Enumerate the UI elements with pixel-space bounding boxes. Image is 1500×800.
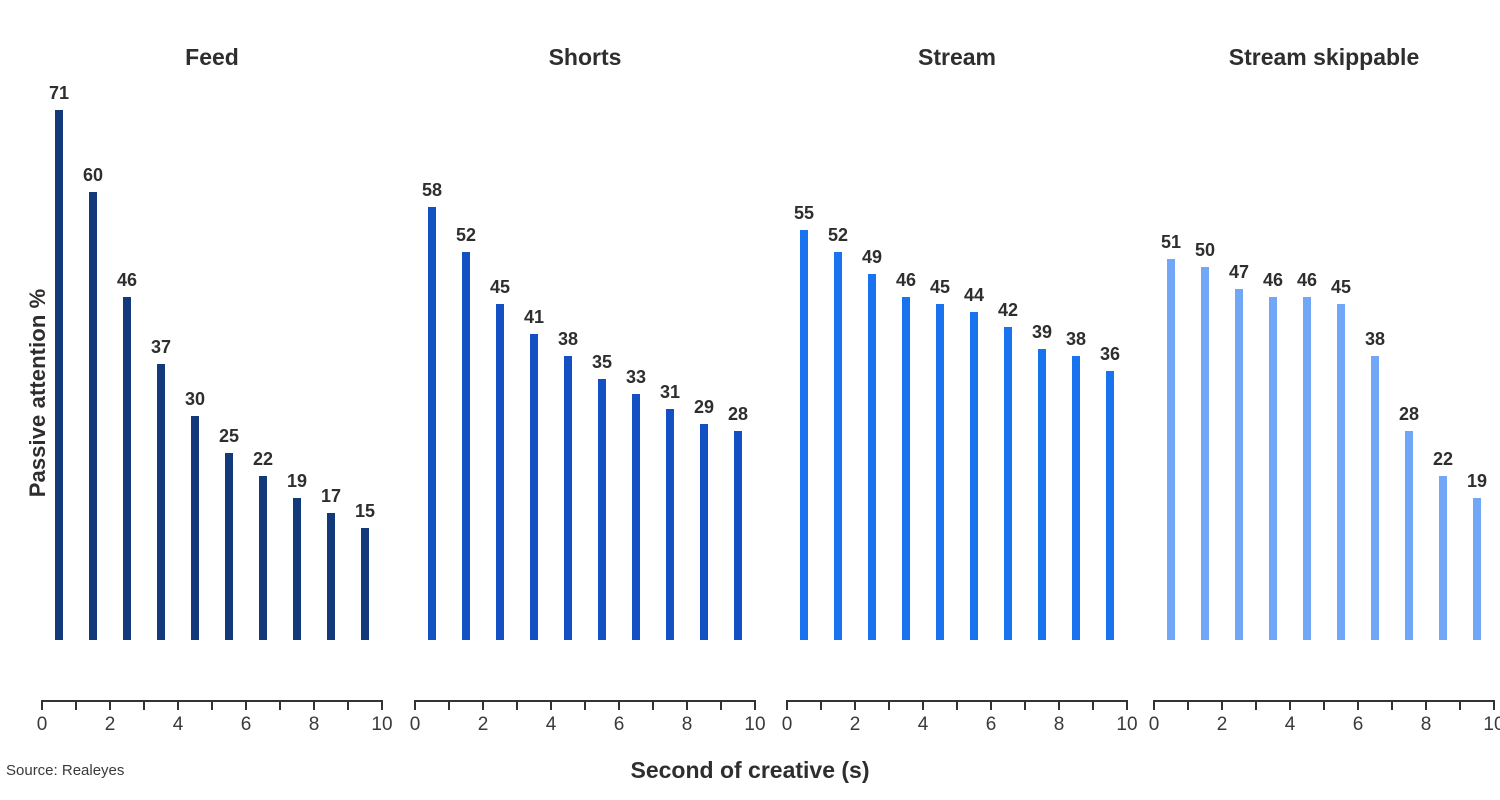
axis-tick	[786, 700, 788, 710]
bar	[327, 513, 335, 640]
panel-shorts: Shorts 58524541383533312928 0246810	[415, 0, 755, 760]
axis-tick-label: 2	[478, 714, 489, 736]
bar-group: 36	[1093, 0, 1127, 700]
axis-tick-label: 8	[1054, 714, 1065, 736]
bar-group: 19	[1460, 0, 1494, 700]
axis-tick	[1153, 700, 1155, 710]
axis-tick-label: 8	[309, 714, 320, 736]
axis-tick	[820, 700, 822, 710]
bar-group: 45	[1324, 0, 1358, 700]
bar-value-label: 33	[626, 368, 646, 386]
bar-value-label: 50	[1195, 241, 1215, 259]
bar-group: 15	[348, 0, 382, 700]
bar-group: 51	[1154, 0, 1188, 700]
bar-value-label: 35	[592, 353, 612, 371]
axis-tick	[414, 700, 416, 710]
bar-value-label: 29	[694, 398, 714, 416]
bar-value-label: 45	[1331, 278, 1351, 296]
axis-tick	[720, 700, 722, 710]
bar-value-label: 55	[794, 204, 814, 222]
axis-tick	[888, 700, 890, 710]
bar-value-label: 17	[321, 487, 341, 505]
bar	[191, 416, 199, 640]
bar-group: 38	[1358, 0, 1392, 700]
bar-group: 29	[687, 0, 721, 700]
bar-value-label: 22	[253, 450, 273, 468]
bar	[1371, 356, 1379, 640]
bar-value-label: 19	[287, 472, 307, 490]
bar-value-label: 71	[49, 84, 69, 102]
axis-tick	[1425, 700, 1427, 710]
bar	[462, 252, 470, 640]
bar-value-label: 22	[1433, 450, 1453, 468]
bar	[800, 230, 808, 640]
bar-group: 47	[1222, 0, 1256, 700]
chart-root: Passive attention % Feed 716046373025221…	[0, 0, 1500, 800]
axis-tick	[347, 700, 349, 710]
axis-tick	[279, 700, 281, 710]
axis-tick	[990, 700, 992, 710]
axis-tick	[1493, 700, 1495, 710]
bar	[1038, 349, 1046, 640]
axis-tick	[1391, 700, 1393, 710]
panel-stream: Stream 55524946454442393836 0246810	[787, 0, 1127, 760]
bar-group: 50	[1188, 0, 1222, 700]
axis-tick	[1058, 700, 1060, 710]
bar-group: 19	[280, 0, 314, 700]
axis-tick-label: 0	[1149, 714, 1160, 736]
bar-group: 52	[449, 0, 483, 700]
axis-tick	[1092, 700, 1094, 710]
bar	[123, 297, 131, 640]
axis-tick	[1323, 700, 1325, 710]
bar-group: 35	[585, 0, 619, 700]
bar	[970, 312, 978, 640]
axis-tick	[584, 700, 586, 710]
panel-feed: Feed 71604637302522191715 0246810	[42, 0, 382, 760]
bar-value-label: 36	[1100, 345, 1120, 363]
bar-group: 46	[889, 0, 923, 700]
axis-tick	[41, 700, 43, 710]
bar	[632, 394, 640, 640]
bar-group: 28	[1392, 0, 1426, 700]
bar	[361, 528, 369, 640]
axis-tick	[618, 700, 620, 710]
axis-tick-label: 6	[986, 714, 997, 736]
bar-value-label: 28	[1399, 405, 1419, 423]
bar-value-label: 25	[219, 427, 239, 445]
bar-group: 41	[517, 0, 551, 700]
bar-value-label: 39	[1032, 323, 1052, 341]
x-axis: 0246810	[787, 700, 1127, 760]
bar-group: 44	[957, 0, 991, 700]
bar-value-label: 49	[862, 248, 882, 266]
bar-group: 38	[551, 0, 585, 700]
axis-tick	[1289, 700, 1291, 710]
bar-group: 55	[787, 0, 821, 700]
axis-tick-label: 6	[1353, 714, 1364, 736]
axis-tick	[1255, 700, 1257, 710]
bar	[293, 498, 301, 640]
bar-value-label: 60	[83, 166, 103, 184]
bar-group: 49	[855, 0, 889, 700]
bar-group: 60	[76, 0, 110, 700]
plot-area: 55524946454442393836	[787, 0, 1127, 700]
bar-value-label: 38	[1365, 330, 1385, 348]
bar-value-label: 51	[1161, 233, 1181, 251]
axis-tick	[448, 700, 450, 710]
bar-group: 25	[212, 0, 246, 700]
bar-group: 33	[619, 0, 653, 700]
bar-group: 39	[1025, 0, 1059, 700]
axis-tick-label: 8	[682, 714, 693, 736]
bar	[1473, 498, 1481, 640]
bar	[1004, 327, 1012, 640]
bar-value-label: 42	[998, 301, 1018, 319]
axis-tick	[956, 700, 958, 710]
bar-value-label: 38	[558, 330, 578, 348]
axis-tick	[313, 700, 315, 710]
axis-tick	[652, 700, 654, 710]
axis-tick	[1221, 700, 1223, 710]
bar-value-label: 46	[1297, 271, 1317, 289]
bar	[157, 364, 165, 640]
bar	[902, 297, 910, 640]
x-axis: 0246810	[415, 700, 755, 760]
axis-tick-label: 10	[371, 714, 392, 736]
axis-tick	[211, 700, 213, 710]
bar-group: 17	[314, 0, 348, 700]
axis-tick	[143, 700, 145, 710]
bar	[1072, 356, 1080, 640]
bar	[1405, 431, 1413, 640]
axis-tick-label: 10	[1116, 714, 1137, 736]
axis-tick	[75, 700, 77, 710]
bar-value-label: 41	[524, 308, 544, 326]
axis-tick	[177, 700, 179, 710]
bar-value-label: 45	[490, 278, 510, 296]
bar	[89, 192, 97, 640]
axis-tick	[1357, 700, 1359, 710]
axis-tick	[1126, 700, 1128, 710]
bar	[734, 431, 742, 640]
plot-area: 51504746464538282219	[1154, 0, 1494, 700]
bar	[225, 453, 233, 640]
axis-tick	[550, 700, 552, 710]
axis-tick	[854, 700, 856, 710]
bar	[834, 252, 842, 640]
bar	[1303, 297, 1311, 640]
bar-group: 28	[721, 0, 755, 700]
bar-value-label: 46	[1263, 271, 1283, 289]
bar-group: 45	[923, 0, 957, 700]
bar-value-label: 44	[964, 286, 984, 304]
bar	[1269, 297, 1277, 640]
bar	[868, 274, 876, 640]
axis-tick	[1024, 700, 1026, 710]
axis-tick	[1459, 700, 1461, 710]
axis-tick-label: 6	[614, 714, 625, 736]
bar	[55, 110, 63, 640]
bar-value-label: 47	[1229, 263, 1249, 281]
x-axis: 0246810	[1154, 700, 1494, 760]
bar	[598, 379, 606, 640]
x-axis: 0246810	[42, 700, 382, 760]
bar	[1235, 289, 1243, 640]
axis-tick-label: 0	[37, 714, 48, 736]
bar-group: 22	[1426, 0, 1460, 700]
bar-group: 38	[1059, 0, 1093, 700]
bar	[530, 334, 538, 640]
bar-group: 31	[653, 0, 687, 700]
plot-area: 58524541383533312928	[415, 0, 755, 700]
axis-tick	[516, 700, 518, 710]
bar-group: 37	[144, 0, 178, 700]
axis-tick	[922, 700, 924, 710]
bar	[428, 207, 436, 640]
bar-group: 46	[110, 0, 144, 700]
axis-tick-label: 4	[918, 714, 929, 736]
bar-group: 42	[991, 0, 1025, 700]
bar-value-label: 58	[422, 181, 442, 199]
bar-value-label: 45	[930, 278, 950, 296]
source-note: Source: Realeyes	[6, 762, 124, 779]
bar-value-label: 46	[896, 271, 916, 289]
bar-value-label: 19	[1467, 472, 1487, 490]
axis-tick-label: 2	[1217, 714, 1228, 736]
bar-group: 58	[415, 0, 449, 700]
bar	[564, 356, 572, 640]
axis-tick	[109, 700, 111, 710]
axis-tick	[381, 700, 383, 710]
bar	[1106, 371, 1114, 640]
axis-tick-label: 4	[1285, 714, 1296, 736]
bar-value-label: 37	[151, 338, 171, 356]
bar-value-label: 46	[117, 271, 137, 289]
bar	[700, 424, 708, 640]
bar	[496, 304, 504, 640]
bar-value-label: 52	[828, 226, 848, 244]
bar-value-label: 52	[456, 226, 476, 244]
bar	[1337, 304, 1345, 640]
axis-tick	[686, 700, 688, 710]
axis-tick	[482, 700, 484, 710]
bar	[1201, 267, 1209, 640]
bar-group: 52	[821, 0, 855, 700]
bar-group: 22	[246, 0, 280, 700]
axis-tick-label: 10	[744, 714, 765, 736]
axis-tick-label: 4	[546, 714, 557, 736]
bar-value-label: 30	[185, 390, 205, 408]
panel-stream-skippable: Stream skippable 51504746464538282219 02…	[1154, 0, 1494, 760]
bar	[936, 304, 944, 640]
axis-tick-label: 0	[782, 714, 793, 736]
bar-value-label: 38	[1066, 330, 1086, 348]
axis-tick	[1187, 700, 1189, 710]
bar	[666, 409, 674, 640]
axis-tick	[245, 700, 247, 710]
axis-tick	[754, 700, 756, 710]
bar-group: 71	[42, 0, 76, 700]
axis-tick-label: 8	[1421, 714, 1432, 736]
bar-value-label: 15	[355, 502, 375, 520]
axis-tick-label: 2	[850, 714, 861, 736]
bar-value-label: 31	[660, 383, 680, 401]
bar-group: 46	[1256, 0, 1290, 700]
panel-row: Feed 71604637302522191715 0246810 Shorts…	[42, 0, 1494, 760]
axis-tick-label: 4	[173, 714, 184, 736]
bar	[259, 476, 267, 640]
bar-group: 30	[178, 0, 212, 700]
axis-tick-label: 10	[1483, 714, 1500, 736]
bar-group: 45	[483, 0, 517, 700]
x-axis-title: Second of creative (s)	[0, 757, 1500, 784]
axis-tick-label: 2	[105, 714, 116, 736]
axis-tick-label: 0	[410, 714, 421, 736]
plot-area: 71604637302522191715	[42, 0, 382, 700]
bar-value-label: 28	[728, 405, 748, 423]
bar	[1167, 259, 1175, 640]
bar	[1439, 476, 1447, 640]
axis-tick-label: 6	[241, 714, 252, 736]
bar-group: 46	[1290, 0, 1324, 700]
